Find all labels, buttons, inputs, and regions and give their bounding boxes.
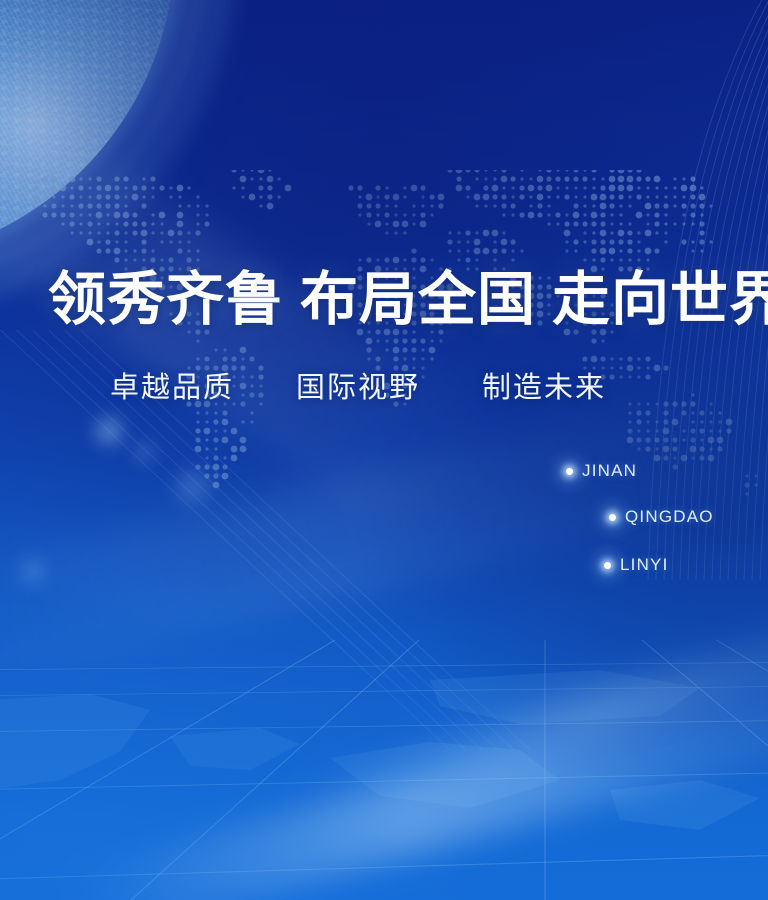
glow-orb-4: [22, 560, 44, 582]
city-dot-icon: [604, 562, 611, 569]
subtitle-segment-2: 国际视野: [296, 370, 420, 404]
subtitle-segment-3: 制造未来: [482, 370, 606, 404]
city-label: QINGDAO: [625, 507, 714, 527]
hero-banner: 领秀齐鲁布局全国走向世界 卓越品质国际视野制造未来 JINAN QINGDAO …: [0, 0, 768, 900]
city-label: LINYI: [620, 555, 669, 575]
glow-orb-3: [176, 470, 210, 504]
headline-segment-1: 领秀齐鲁: [48, 265, 284, 333]
glow-orb-2: [136, 444, 152, 460]
page-subtitle: 卓越品质国际视野制造未来: [110, 370, 606, 404]
city-dot-icon: [566, 468, 573, 475]
headline-segment-2: 布局全国: [300, 265, 536, 333]
city-dot-icon: [609, 514, 616, 521]
page-title: 领秀齐鲁布局全国走向世界: [48, 268, 768, 330]
city-label: JINAN: [582, 461, 637, 481]
glow-orb-1: [96, 418, 122, 444]
subtitle-segment-1: 卓越品质: [110, 370, 234, 404]
map-marker-qingdao[interactable]: QINGDAO: [609, 507, 714, 527]
map-marker-jinan[interactable]: JINAN: [566, 461, 637, 481]
map-marker-linyi[interactable]: LINYI: [604, 555, 669, 575]
headline-segment-3: 走向世界: [552, 265, 768, 333]
